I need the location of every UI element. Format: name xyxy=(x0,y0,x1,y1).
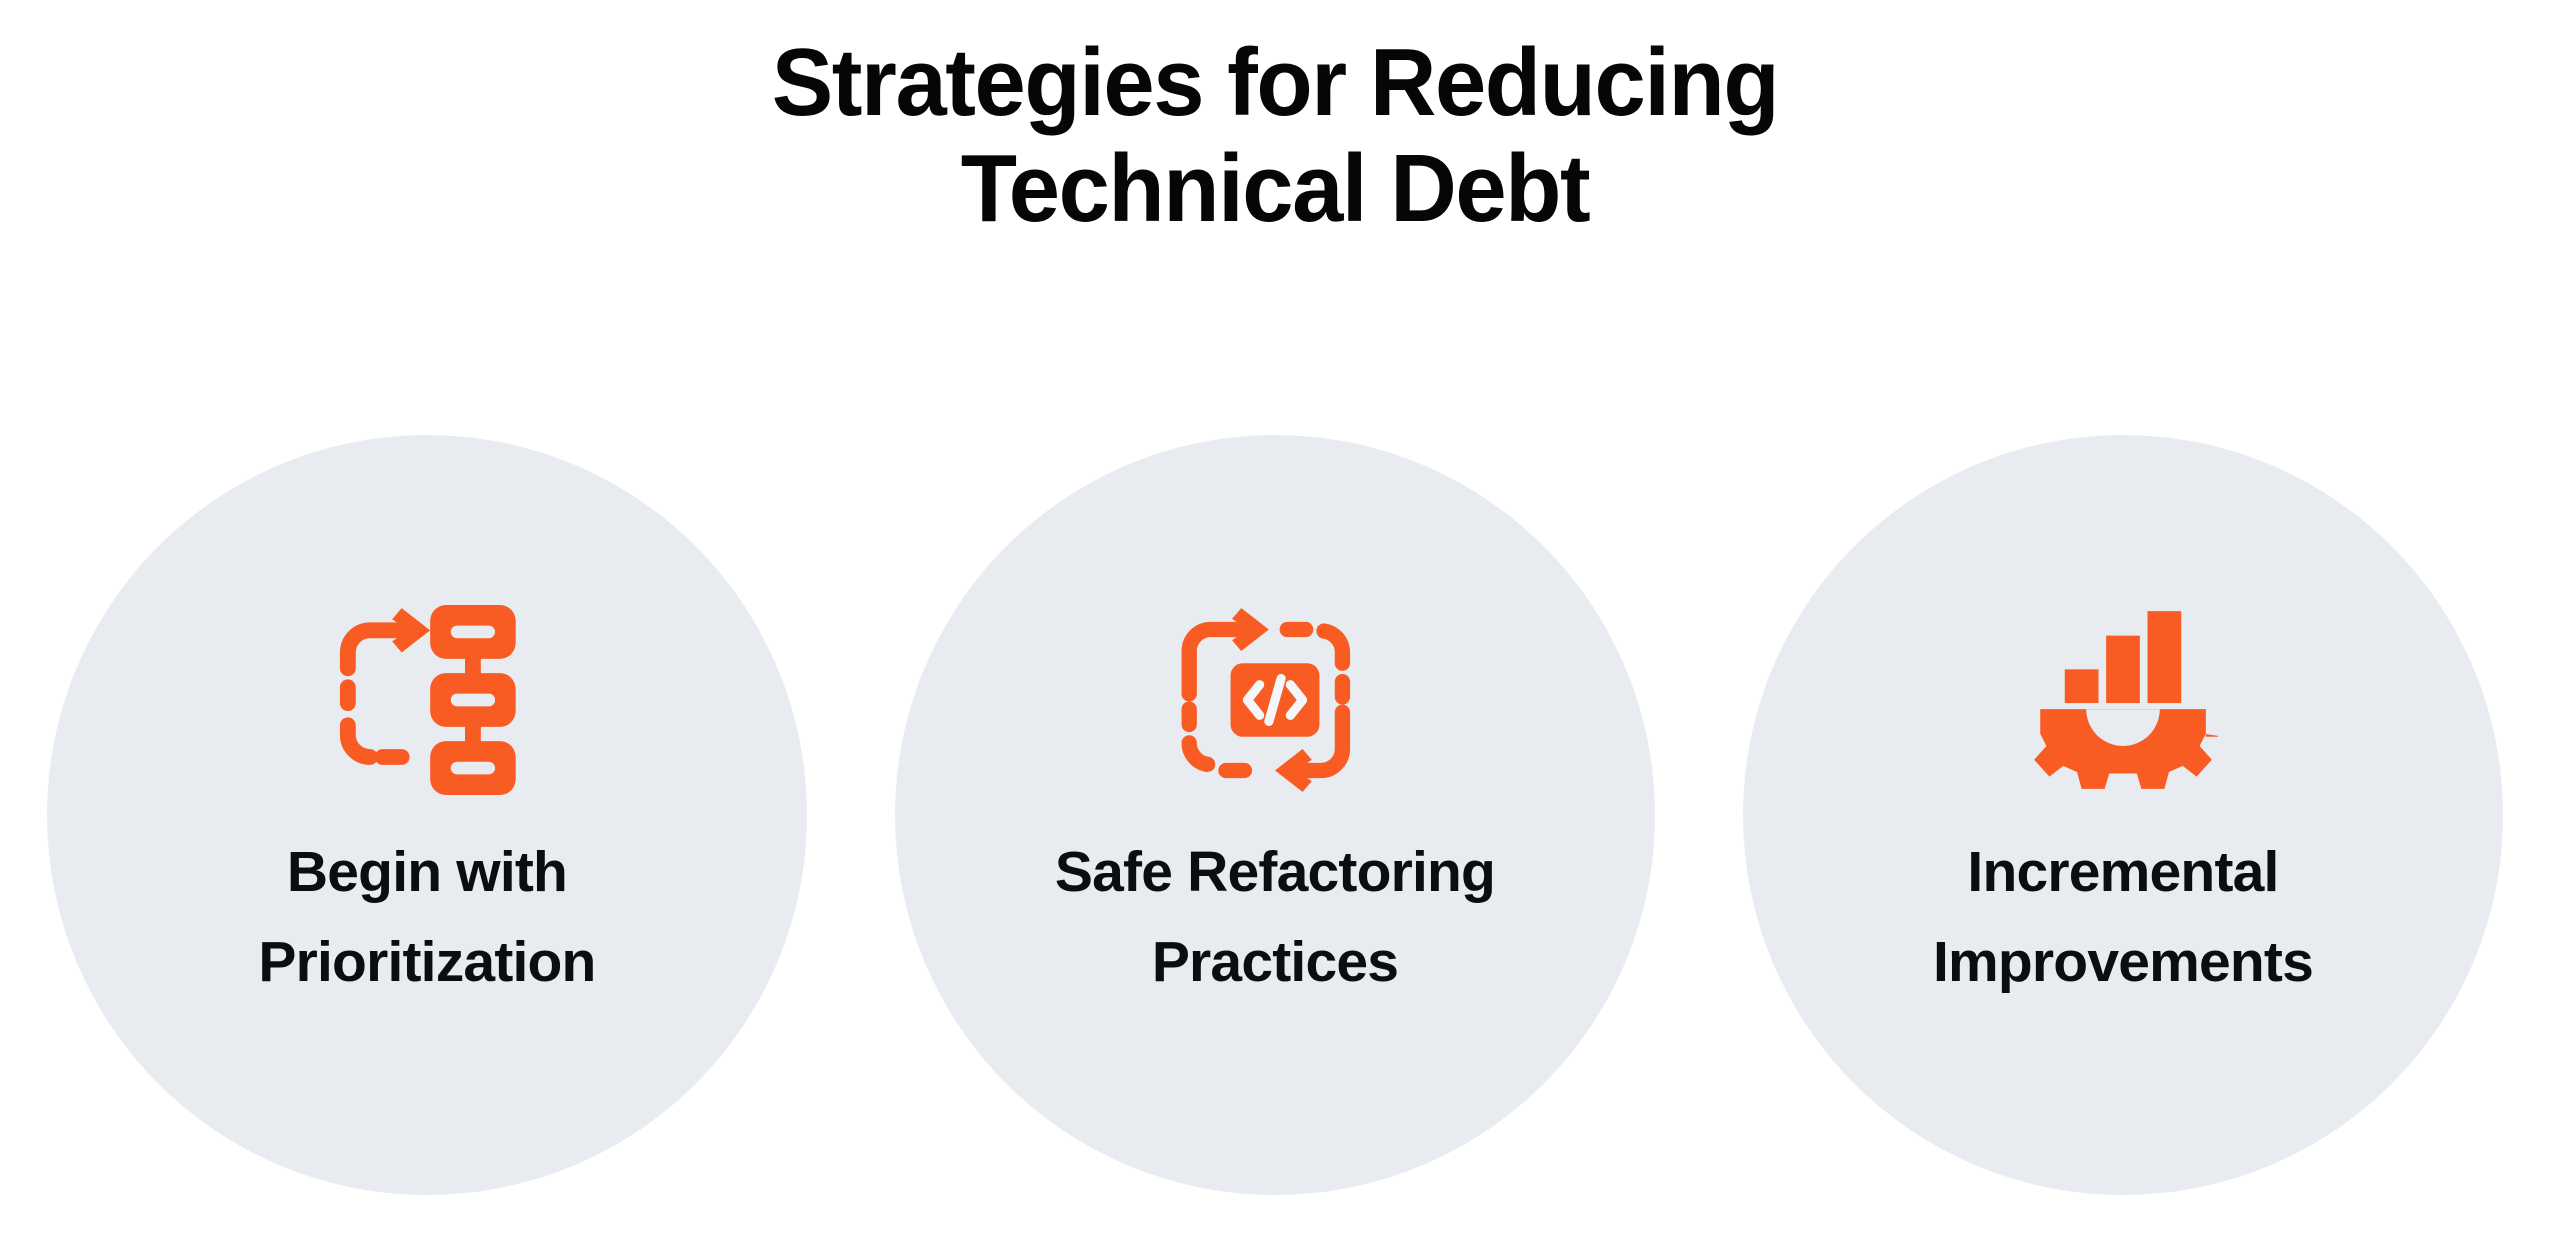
strategy-label-line-2: Prioritization xyxy=(147,917,707,1007)
strategy-card-prioritization[interactable]: Begin with Prioritization xyxy=(47,435,807,1195)
strategy-card-refactoring[interactable]: Safe Refactoring Practices xyxy=(895,435,1655,1195)
slide-root: Strategies for Reducing Technical Debt xyxy=(0,0,2550,1248)
strategy-card-incremental[interactable]: Incremental Improvements xyxy=(1743,435,2503,1195)
strategy-card-label: Begin with Prioritization xyxy=(147,827,707,1007)
strategy-label-line-1: Begin with xyxy=(147,827,707,917)
title-line-2: Technical Debt xyxy=(51,144,2499,234)
gear-growth-chart-icon xyxy=(2028,605,2218,795)
strategy-card-label: Safe Refactoring Practices xyxy=(995,827,1555,1007)
strategy-card-label: Incremental Improvements xyxy=(1843,827,2403,1007)
strategy-label-line-2: Improvements xyxy=(1843,917,2403,1007)
strategy-label-line-2: Practices xyxy=(995,917,1555,1007)
page-title: Strategies for Reducing Technical Debt xyxy=(0,38,2550,234)
strategy-label-line-1: Incremental xyxy=(1843,827,2403,917)
strategy-card-row: Begin with Prioritization xyxy=(0,435,2550,1195)
code-refactor-loop-icon xyxy=(1180,605,1370,795)
title-line-1: Strategies for Reducing xyxy=(51,38,2499,128)
prioritized-backlog-icon xyxy=(332,605,522,795)
strategy-label-line-1: Safe Refactoring xyxy=(995,827,1555,917)
